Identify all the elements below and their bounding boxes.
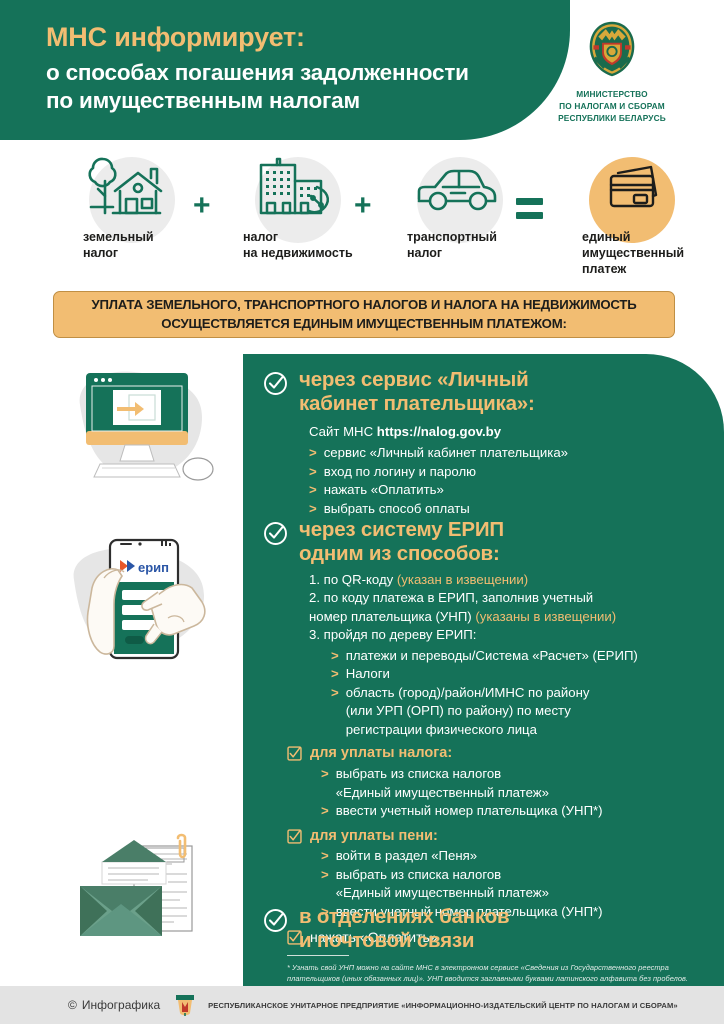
plus-sign-1: + — [193, 191, 211, 221]
tax-item-transport-label-2: налог — [407, 245, 507, 261]
buildings-icon — [243, 151, 343, 225]
arrow-bullet-icon: > — [309, 463, 317, 481]
numbered-item-3: 3. пройдя по дереву ЕРИП: — [309, 626, 693, 644]
list-item: > область (город)/район/ИМНС по району (… — [331, 684, 693, 739]
list-item: >платежи и переводы/Система «Расчет» (ЕР… — [331, 647, 693, 665]
tax-item-property-label-2: на недвижимость — [243, 245, 353, 261]
footer-bar: © Инфографика РЕСПУБЛИКАНСКОЕ УНИТАРНОЕ … — [0, 986, 724, 1024]
list-item: >нажать «Оплатить» — [309, 481, 683, 499]
info-banner-line2: ОСУЩЕСТВЛЯЕТСЯ ЕДИНЫМ ИМУЩЕСТВЕННЫМ ПЛАТ… — [161, 315, 566, 333]
tax-payment-block: для уплаты налога: > выбрать из списка н… — [287, 744, 693, 820]
tax-item-transport: транспортный налог — [407, 151, 507, 261]
arrow-bullet-icon: > — [321, 802, 329, 820]
footer-copyright-text: Инфографика — [82, 998, 160, 1012]
envelope-with-documents-icon — [62, 826, 237, 961]
list-item: > выбрать из списка налогов «Единый имущ… — [321, 866, 693, 903]
arrow-bullet-icon: > — [331, 684, 339, 702]
list-item: >сервис «Личный кабинет плательщика» — [309, 444, 683, 462]
header-banner: МНС информирует: о способах погашения за… — [0, 0, 570, 140]
footer-organization: РЕСПУБЛИКАНСКОЕ УНИТАРНОЕ ПРЕДПРИЯТИЕ «И… — [208, 1001, 678, 1010]
method-section-personal-cabinet: через сервис «Личный кабинет плательщика… — [263, 368, 683, 518]
list-item: >войти в раздел «Пеня» — [321, 847, 693, 865]
equals-sign — [516, 198, 543, 219]
arrow-bullet-icon: > — [331, 665, 339, 683]
copyright-icon: © — [68, 998, 77, 1012]
list-item: >вход по логину и паролю — [309, 463, 683, 481]
tax-payment-label: для уплаты налога: — [310, 744, 452, 763]
section2-title-line1: через систему ЕРИП — [299, 518, 504, 542]
footnote-line2: плательщиков (иных обязанных лиц)». УНП … — [287, 973, 695, 984]
tax-item-property: налог на недвижимость — [243, 151, 353, 261]
ministry-name-line2: ПО НАЛОГАМ И СБОРАМ — [522, 100, 702, 112]
arrow-bullet-icon: > — [309, 444, 317, 462]
section3-title-line2: и почтовой связи — [299, 929, 509, 953]
envelope-documents-illustration — [62, 826, 237, 966]
iic-logo-icon — [174, 993, 196, 1017]
section1-site-line: Сайт МНС https://nalog.gov.by — [309, 423, 683, 441]
ministry-block: МИНИСТЕРСТВО ПО НАЛОГАМ И СБОРАМ РЕСПУБЛ… — [522, 18, 702, 124]
ministry-name-line1: МИНИСТЕРСТВО — [522, 88, 702, 100]
list-item: >Налоги — [331, 665, 693, 683]
hand-holding-phone-erip-icon: ерип — [62, 518, 237, 668]
tax-item-transport-label-1: транспортный — [407, 229, 507, 245]
footnote: * Узнать свой УНП можно на сайте МНС в э… — [287, 955, 695, 985]
page-subtitle-line2: по имущественным налогам — [46, 87, 570, 115]
arrow-bullet-icon: > — [309, 500, 317, 518]
method-section-banks: в отделениях банков и почтовой связи — [263, 905, 683, 953]
section3-title-line1: в отделениях банков — [299, 905, 509, 929]
checkbox-icon — [287, 746, 302, 761]
arrow-bullet-icon: > — [309, 481, 317, 499]
footnote-divider — [287, 955, 349, 956]
tax-item-land: земельный налог — [83, 151, 175, 261]
numbered-item-2: 2. по коду платежа в ЕРИП, заполнив учет… — [309, 589, 693, 607]
tax-item-single-payment: единый имущественный платеж — [570, 151, 684, 277]
svg-text:ерип: ерип — [138, 560, 169, 575]
arrow-bullet-icon: > — [321, 866, 329, 884]
ministry-name-line3: РЕСПУБЛИКИ БЕЛАРУСЬ — [522, 112, 702, 124]
house-with-tree-icon — [83, 151, 175, 225]
arrow-bullet-icon: > — [321, 765, 329, 783]
list-item: >ввести учетный номер плательщика (УНП*) — [321, 802, 693, 820]
site-prefix: Сайт МНС — [309, 424, 377, 439]
page-title: МНС информирует: — [46, 22, 570, 53]
footer-copyright: © Инфографика — [68, 998, 160, 1012]
list-item: > выбрать из списка налогов «Единый имущ… — [321, 765, 693, 802]
desktop-computer-illustration — [62, 365, 237, 510]
check-circle-icon — [263, 371, 288, 396]
check-circle-icon — [263, 521, 288, 546]
footnote-line1: * Узнать свой УНП можно на сайте МНС в э… — [287, 962, 695, 973]
numbered-item-2-cont: номер плательщика (УНП) (указаны в извещ… — [309, 608, 693, 626]
section1-title-line2: кабинет плательщика»: — [299, 392, 535, 416]
arrow-bullet-icon: > — [321, 847, 329, 865]
car-icon — [407, 151, 507, 225]
section2-title-line2: одним из способов: — [299, 542, 504, 566]
desktop-computer-icon — [62, 365, 237, 505]
belarus-coat-of-arms-icon — [581, 18, 643, 80]
arrow-bullet-icon: > — [331, 647, 339, 665]
page-subtitle-line1: о способах погашения задолженности — [46, 59, 570, 87]
single-payment-label-3: платеж — [582, 261, 684, 277]
check-circle-icon — [263, 908, 288, 933]
checkbox-icon — [287, 829, 302, 844]
single-payment-label-2: имущественный — [582, 245, 684, 261]
list-item: >выбрать способ оплаты — [309, 500, 683, 518]
single-payment-label-1: единый — [582, 229, 684, 245]
tax-item-land-label-2: налог — [83, 245, 175, 261]
payment-cards-icon — [578, 151, 678, 225]
tax-item-land-label-1: земельный — [83, 229, 175, 245]
tax-types-row: земельный налог + — [0, 143, 724, 283]
tax-item-property-label-1: налог — [243, 229, 353, 245]
plus-sign-2: + — [354, 191, 372, 221]
info-banner-line1: УПЛАТА ЗЕМЕЛЬНОГО, ТРАНСПОРТНОГО НАЛОГОВ… — [91, 296, 636, 314]
penalty-payment-label: для уплаты пени: — [310, 827, 438, 846]
info-banner: УПЛАТА ЗЕМЕЛЬНОГО, ТРАНСПОРТНОГО НАЛОГОВ… — [53, 291, 675, 338]
phone-payment-illustration: ерип — [62, 518, 237, 673]
infographic-page: МНС информирует: о способах погашения за… — [0, 0, 724, 1024]
section1-title-line1: через сервис «Личный — [299, 368, 535, 392]
method-section-erip: через систему ЕРИП одним из способов: 1.… — [263, 518, 693, 947]
site-url[interactable]: https://nalog.gov.by — [377, 424, 501, 439]
numbered-item-1: 1. по QR-коду (указан в извещении) — [309, 571, 693, 589]
